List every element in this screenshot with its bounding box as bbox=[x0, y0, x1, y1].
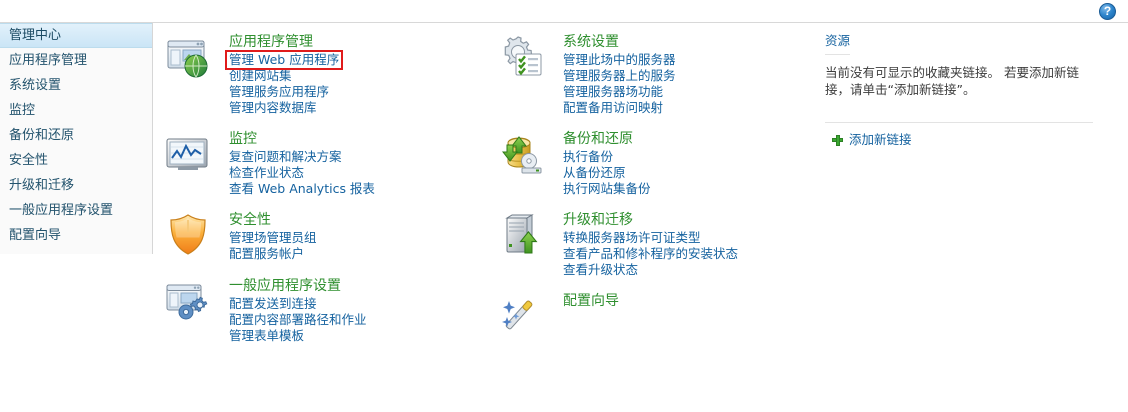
section-link[interactable]: 管理服务器场功能 bbox=[563, 84, 663, 100]
section-body: 系统设置管理此场中的服务器管理服务器上的服务管理服务器场功能配置备用访问映射 bbox=[563, 33, 825, 116]
section-title[interactable]: 升级和迁移 bbox=[563, 211, 825, 229]
add-new-link-button[interactable]: 添加新链接 bbox=[825, 132, 912, 148]
resources-empty-message: 当前没有可显示的收藏夹链接。 若要添加新链接，请单击“添加新链接”。 bbox=[825, 64, 1093, 123]
section-link[interactable]: 管理服务器上的服务 bbox=[563, 68, 676, 84]
section-body: 监控复查问题和解决方案检查作业状态查看 Web Analytics 报表 bbox=[229, 130, 491, 197]
section-link[interactable]: 管理场管理员组 bbox=[229, 230, 317, 246]
section-title[interactable]: 系统设置 bbox=[563, 33, 825, 51]
content-column-left: 应用程序管理管理 Web 应用程序创建网站集管理服务应用程序管理内容数据库 监控… bbox=[161, 33, 491, 358]
section-link[interactable]: 管理内容数据库 bbox=[229, 100, 317, 116]
section-link[interactable]: 执行备份 bbox=[563, 149, 613, 165]
section-link[interactable]: 管理表单模板 bbox=[229, 328, 304, 344]
backup-restore-database-arrows-icon bbox=[498, 130, 546, 178]
content-section: 升级和迁移转换服务器场许可证类型查看产品和修补程序的安装状态查看升级状态 bbox=[495, 211, 825, 278]
content-section: 系统设置管理此场中的服务器管理服务器上的服务管理服务器场功能配置备用访问映射 bbox=[495, 33, 825, 116]
main-content: 应用程序管理管理 Web 应用程序创建网站集管理服务应用程序管理内容数据库 监控… bbox=[153, 23, 1128, 412]
section-body: 备份和还原执行备份从备份还原执行网站集备份 bbox=[563, 130, 825, 197]
sidebar-item-central-administration[interactable]: 管理中心 bbox=[0, 23, 152, 48]
section-link[interactable]: 检查作业状态 bbox=[229, 165, 304, 181]
section-body: 升级和迁移转换服务器场许可证类型查看产品和修补程序的安装状态查看升级状态 bbox=[563, 211, 825, 278]
monitoring-chart-screen-icon bbox=[164, 130, 212, 178]
section-link[interactable]: 配置发送到连接 bbox=[229, 296, 317, 312]
sidebar-item-upgrade-and-migration[interactable]: 升级和迁移 bbox=[0, 173, 152, 198]
section-link[interactable]: 配置备用访问映射 bbox=[563, 100, 663, 116]
resources-web-part: 资源 当前没有可显示的收藏夹链接。 若要添加新链接，请单击“添加新链接”。 添加… bbox=[825, 33, 1123, 148]
section-body: 一般应用程序设置配置发送到连接配置内容部署路径和作业管理表单模板 bbox=[229, 277, 491, 344]
section-link[interactable]: 配置内容部署路径和作业 bbox=[229, 312, 367, 328]
web-application-window-globe-icon bbox=[164, 33, 212, 81]
section-link[interactable]: 复查问题和解决方案 bbox=[229, 149, 342, 165]
section-link[interactable]: 管理服务应用程序 bbox=[229, 84, 329, 100]
section-link[interactable]: 查看 Web Analytics 报表 bbox=[229, 181, 375, 197]
sidebar-item-application-management[interactable]: 应用程序管理 bbox=[0, 48, 152, 73]
section-link[interactable]: 执行网站集备份 bbox=[563, 181, 651, 197]
content-section: 备份和还原执行备份从备份还原执行网站集备份 bbox=[495, 130, 825, 197]
section-body: 安全性管理场管理员组配置服务帐户 bbox=[229, 211, 491, 262]
sidebar-item-configuration-wizards[interactable]: 配置向导 bbox=[0, 223, 152, 248]
system-settings-gear-checklist-icon bbox=[498, 33, 546, 81]
sidebar-item-system-settings[interactable]: 系统设置 bbox=[0, 73, 152, 98]
section-title[interactable]: 监控 bbox=[229, 130, 491, 148]
left-navigation: 管理中心应用程序管理系统设置监控备份和还原安全性升级和迁移一般应用程序设置配置向… bbox=[0, 23, 153, 254]
general-settings-window-gears-icon bbox=[164, 277, 212, 325]
upgrade-server-arrow-icon bbox=[498, 211, 546, 259]
sidebar-item-security[interactable]: 安全性 bbox=[0, 148, 152, 173]
section-title[interactable]: 安全性 bbox=[229, 211, 491, 229]
section-title[interactable]: 一般应用程序设置 bbox=[229, 277, 491, 295]
content-section: 监控复查问题和解决方案检查作业状态查看 Web Analytics 报表 bbox=[161, 130, 491, 197]
section-title[interactable]: 应用程序管理 bbox=[229, 33, 491, 51]
section-link[interactable]: 从备份还原 bbox=[563, 165, 626, 181]
content-section: 安全性管理场管理员组配置服务帐户 bbox=[161, 211, 491, 263]
content-section: 应用程序管理管理 Web 应用程序创建网站集管理服务应用程序管理内容数据库 bbox=[161, 33, 491, 116]
sidebar-item-backup-and-restore[interactable]: 备份和还原 bbox=[0, 123, 152, 148]
green-plus-icon bbox=[832, 135, 843, 146]
configuration-wizard-magic-wand-icon bbox=[498, 292, 546, 340]
add-new-link-label: 添加新链接 bbox=[849, 132, 912, 148]
section-link[interactable]: 创建网站集 bbox=[229, 68, 292, 84]
section-link[interactable]: 转换服务器场许可证类型 bbox=[563, 230, 701, 246]
section-link[interactable]: 查看升级状态 bbox=[563, 262, 638, 278]
content-section: 配置向导 bbox=[495, 292, 825, 344]
section-title[interactable]: 配置向导 bbox=[563, 292, 825, 310]
content-section: 一般应用程序设置配置发送到连接配置内容部署路径和作业管理表单模板 bbox=[161, 277, 491, 344]
section-link[interactable]: 配置服务帐户 bbox=[229, 246, 304, 262]
content-column-middle: 系统设置管理此场中的服务器管理服务器上的服务管理服务器场功能配置备用访问映射 备… bbox=[495, 33, 825, 358]
section-body: 配置向导 bbox=[563, 292, 825, 310]
help-icon[interactable]: ? bbox=[1099, 3, 1116, 20]
resources-title[interactable]: 资源 bbox=[825, 33, 850, 55]
section-link[interactable]: 查看产品和修补程序的安装状态 bbox=[563, 246, 738, 262]
section-title[interactable]: 备份和还原 bbox=[563, 130, 825, 148]
section-link[interactable]: 管理此场中的服务器 bbox=[563, 52, 676, 68]
section-link-highlighted[interactable]: 管理 Web 应用程序 bbox=[227, 52, 341, 68]
sidebar-item-monitoring[interactable]: 监控 bbox=[0, 98, 152, 123]
section-body: 应用程序管理管理 Web 应用程序创建网站集管理服务应用程序管理内容数据库 bbox=[229, 33, 491, 116]
sidebar-item-general-application-settings[interactable]: 一般应用程序设置 bbox=[0, 198, 152, 223]
security-shield-icon bbox=[164, 211, 212, 259]
top-bar: ? bbox=[0, 0, 1128, 23]
